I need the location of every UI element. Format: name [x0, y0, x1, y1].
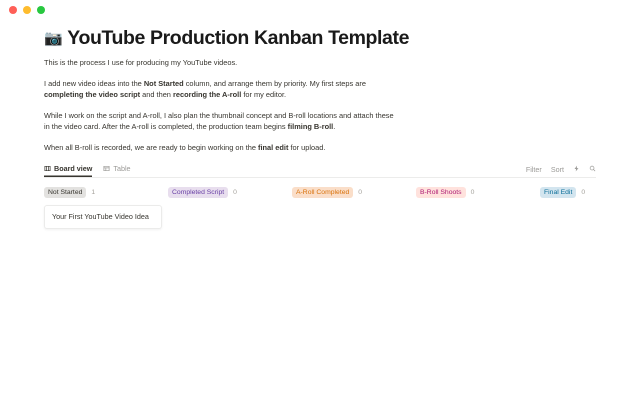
column-header[interactable]: Final Edit0 [540, 187, 640, 198]
paragraph: This is the process I use for producing … [44, 57, 396, 69]
view-toolbar: Board viewTable FilterSort [44, 163, 596, 178]
text: While I work on the script and A-roll, I… [44, 111, 394, 132]
lightning-button[interactable] [573, 165, 580, 174]
bold-text: completing the video script [44, 90, 140, 99]
document-body: This is the process I use for producing … [44, 57, 596, 154]
maximize-window-button[interactable] [37, 6, 45, 14]
kanban-column: Not Started1Your First YouTube Video Ide… [44, 187, 168, 229]
close-window-button[interactable] [9, 6, 17, 14]
status-badge: A-Roll Completed [292, 187, 353, 198]
status-badge: B-Roll Shoots [416, 187, 466, 198]
minimize-window-button[interactable] [23, 6, 31, 14]
kanban-column: B-Roll Shoots0 [416, 187, 540, 229]
tab-table[interactable]: Table [103, 162, 130, 177]
sort-button[interactable]: Sort [551, 165, 564, 174]
filter-button[interactable]: Filter [526, 165, 542, 174]
kanban-card[interactable]: Your First YouTube Video Idea [44, 205, 162, 229]
tab-board-view[interactable]: Board view [44, 162, 92, 177]
tab-label: Board view [54, 164, 92, 173]
search-button[interactable] [589, 165, 596, 174]
text: for my editor. [241, 90, 286, 99]
search-icon [589, 165, 596, 174]
bold-text: filming B-roll [288, 122, 334, 131]
view-tabs: Board viewTable [44, 162, 131, 177]
view-tools: FilterSort [526, 165, 596, 177]
kanban-column: Completed Script0 [168, 187, 292, 229]
text: When all B-roll is recorded, we are read… [44, 143, 258, 152]
document-page: 📷 YouTube Production Kanban Template Thi… [0, 20, 640, 229]
kanban-column: Final Edit0 [540, 187, 640, 229]
tool-label: Sort [551, 165, 564, 174]
column-header[interactable]: B-Roll Shoots0 [416, 187, 540, 198]
tab-label: Table [113, 164, 130, 173]
status-badge: Final Edit [540, 187, 576, 198]
bold-text: Not Started [144, 79, 184, 88]
page-title: 📷 YouTube Production Kanban Template [44, 26, 596, 50]
table-view-icon [103, 165, 110, 172]
text: and then [140, 90, 173, 99]
text: This is the process I use for producing … [44, 58, 237, 67]
text: . [333, 122, 335, 131]
window-titlebar [0, 0, 640, 20]
text: for upload. [288, 143, 325, 152]
column-header[interactable]: A-Roll Completed0 [292, 187, 416, 198]
text: I add new video ideas into the [44, 79, 144, 88]
paragraph: While I work on the script and A-roll, I… [44, 110, 396, 133]
bold-text: final edit [258, 143, 288, 152]
lightning-icon [573, 165, 580, 174]
tool-label: Filter [526, 165, 542, 174]
page-title-text: YouTube Production Kanban Template [67, 26, 409, 50]
board-view-icon [44, 165, 51, 172]
paragraph: When all B-roll is recorded, we are read… [44, 142, 396, 154]
text: column, and arrange them by priority. My… [184, 79, 366, 88]
status-badge: Completed Script [168, 187, 228, 198]
column-count: 0 [581, 189, 585, 196]
column-count: 1 [91, 189, 95, 196]
kanban-column: A-Roll Completed0 [292, 187, 416, 229]
column-count: 0 [358, 189, 362, 196]
bold-text: recording the A-roll [173, 90, 241, 99]
column-count: 0 [233, 189, 237, 196]
kanban-board: Not Started1Your First YouTube Video Ide… [44, 187, 596, 229]
camera-icon: 📷 [44, 31, 62, 46]
status-badge: Not Started [44, 187, 86, 198]
paragraph: I add new video ideas into the Not Start… [44, 78, 396, 101]
column-header[interactable]: Completed Script0 [168, 187, 292, 198]
column-header[interactable]: Not Started1 [44, 187, 168, 198]
column-count: 0 [471, 189, 475, 196]
